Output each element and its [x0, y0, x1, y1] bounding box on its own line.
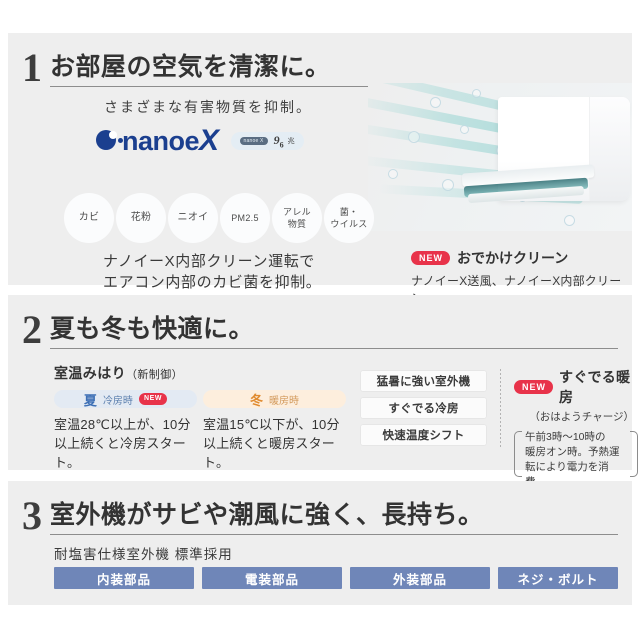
section-2-heading: 2 夏も冬も快適に。: [22, 305, 618, 349]
section-3-outdoor-unit: 3 室外機がサビや潮風に強く、長持ち。 耐塩害仕様室外機 標準採用 内装部品 電…: [8, 481, 632, 605]
feature-chip: すぐでる冷房: [360, 397, 487, 419]
season-card-summer: 夏 冷房時 NEW 室温28℃以上が、10分 以上続くと冷房スタート。: [54, 390, 197, 472]
season-cards: 夏 冷房時 NEW 室温28℃以上が、10分 以上続くと冷房スタート。 冬 暖房…: [54, 390, 346, 472]
substance-bubble: 花粉: [116, 193, 166, 243]
feature-chip: 猛暑に強い室外機: [360, 370, 487, 392]
season-winter-text: 室温15℃以下が、10分 以上続くと暖房スタート。: [203, 415, 346, 472]
nanoe-droplet-icon: [96, 130, 119, 153]
season-winter-kanji: 冬: [250, 390, 263, 409]
air-conditioner-illustration: [368, 83, 632, 231]
nanoe-badge-unit: 兆: [288, 136, 295, 146]
season-winter-mode: 暖房時: [269, 392, 299, 407]
nanoe-wordmark: nanoeX: [122, 127, 219, 155]
parts-bar: 電装部品: [202, 567, 342, 589]
substance-bubble: カビ: [64, 193, 114, 243]
season-summer-header: 夏 冷房時 NEW: [54, 390, 197, 408]
parts-bar: 外装部品: [350, 567, 490, 589]
substance-bubble: アレル物質: [272, 193, 322, 243]
nanoe-badge-pill: nanoe X: [240, 137, 268, 145]
new-badge: NEW: [514, 380, 553, 394]
season-summer-kanji: 夏: [84, 390, 97, 409]
quick-heating-title-text: すぐでる暖房: [559, 367, 638, 407]
section-3-heading: 3 室外機がサビや潮風に強く、長持ち。: [22, 491, 618, 535]
season-winter-line-2: 以上続くと暖房スタート。: [203, 434, 346, 472]
suppressed-substances-list: カビ 花粉 ニオイ PM2.5 アレル物質 菌・ウイルス: [64, 193, 374, 243]
section-1-clean-air: 1 お部屋の空気を清潔に。: [8, 33, 632, 285]
water-particle-icon: [408, 131, 420, 143]
section-2-title: 夏も冬も快適に。: [50, 314, 618, 349]
season-summer-text: 室温28℃以上が、10分 以上続くと冷房スタート。: [54, 415, 197, 472]
nanoe-x-logo: nanoeX: [96, 127, 219, 155]
quick-heating-subtitle: （おはようチャージ）: [514, 409, 638, 424]
description-line-2: エアコン内部のカビ菌を抑制。: [103, 272, 321, 293]
water-particle-icon: [388, 169, 398, 179]
section-1-subtitle: さまざまな有害物質を抑制。: [104, 97, 312, 117]
parts-bar: ネジ・ボルト: [498, 567, 618, 589]
season-winter-header: 冬 暖房時: [203, 390, 346, 408]
vertical-dotted-divider: [500, 369, 501, 449]
water-particle-icon: [442, 179, 454, 191]
parts-bar-list: 内装部品 電装部品 外装部品 ネジ・ボルト: [54, 567, 618, 589]
nanoe-output-badge: nanoe X 96 兆: [231, 132, 304, 150]
section-1-description: ナノイーX内部クリーン運転で エアコン内部のカビ菌を抑制。: [103, 251, 321, 293]
section-3-title: 室外機がサビや潮風に強く、長持ち。: [50, 500, 618, 535]
room-temp-watch-paren: （新制御）: [126, 369, 183, 381]
season-summer-line-2: 以上続くと冷房スタート。: [54, 434, 197, 472]
quick-heating-callout: NEW すぐでる暖房 （おはようチャージ） 午前3時〜10時の 暖房オン時。予熱…: [514, 367, 638, 490]
odekake-title-row: NEW おでかけクリーン: [411, 248, 632, 268]
section-1-number: 1: [22, 49, 41, 87]
feature-page: 1 お部屋の空気を清潔に。: [0, 0, 640, 640]
new-badge: NEW: [139, 393, 167, 405]
substance-bubble: PM2.5: [220, 193, 270, 243]
substance-bubble: ニオイ: [168, 193, 218, 243]
odekake-title-text: おでかけクリーン: [457, 248, 568, 268]
section-2-number: 2: [22, 311, 41, 349]
water-particle-icon: [430, 97, 441, 108]
new-badge: NEW: [411, 251, 450, 265]
room-temp-watch-label: 室温みはり（新制御）: [54, 363, 183, 383]
section-1-heading: 1 お部屋の空気を清潔に。: [22, 43, 618, 87]
room-temp-watch-main: 室温みはり: [54, 365, 126, 381]
nanoe-badge-value: 96: [274, 133, 284, 149]
season-summer-mode: 冷房時: [103, 392, 133, 407]
quick-heating-note-line-2: 暖房オン時。予熱運: [525, 445, 627, 460]
season-summer-line-1: 室温28℃以上が、10分: [54, 415, 197, 434]
feature-chip: 快速温度シフト: [360, 424, 487, 446]
substance-bubble: 菌・ウイルス: [324, 193, 374, 243]
water-particle-icon: [564, 215, 575, 226]
water-particle-icon: [460, 125, 469, 134]
quick-heating-title-row: NEW すぐでる暖房: [514, 367, 638, 407]
section-3-number: 3: [22, 497, 41, 535]
water-particle-icon: [472, 89, 481, 98]
feature-chip-list: 猛暑に強い室外機 すぐでる冷房 快速温度シフト: [360, 370, 487, 451]
ac-unit-side-panel: [589, 97, 630, 201]
salt-resistant-label: 耐塩害仕様室外機 標準採用: [54, 543, 233, 563]
section-1-title: お部屋の空気を清潔に。: [50, 52, 618, 87]
section-2-comfort: 2 夏も冬も快適に。 室温みはり（新制御） 夏 冷房時 NEW 室温28℃以上が…: [8, 295, 632, 470]
nanoe-x-logo-row: nanoeX nanoe X 96 兆: [96, 127, 304, 155]
parts-bar: 内装部品: [54, 567, 194, 589]
season-winter-line-1: 室温15℃以下が、10分: [203, 415, 346, 434]
quick-heating-note-line-1: 午前3時〜10時の: [525, 430, 627, 445]
description-line-1: ナノイーX内部クリーン運転で: [103, 251, 321, 272]
season-card-winter: 冬 暖房時 室温15℃以下が、10分 以上続くと暖房スタート。: [203, 390, 346, 472]
